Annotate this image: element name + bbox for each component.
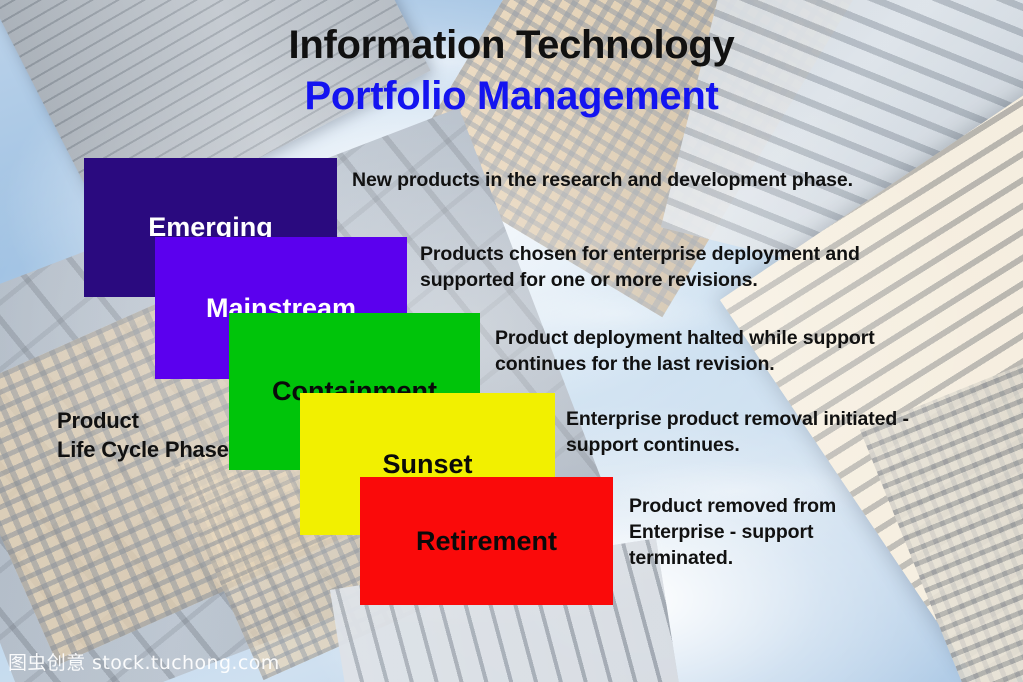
phase-description-mainstream: Products chosen for enterprise deploymen… xyxy=(420,242,950,294)
phase-label-retirement: Retirement xyxy=(416,526,557,557)
left-axis-label-line-one: Product xyxy=(57,406,241,435)
phase-box-retirement[interactable]: Retirement xyxy=(360,477,613,605)
phase-description-sunset: Enterprise product removal initiated - s… xyxy=(566,407,926,459)
poster-title: Information Technology Portfolio Managem… xyxy=(0,24,1023,118)
phase-description-containment: Product deployment halted while support … xyxy=(495,326,965,378)
phase-label-sunset: Sunset xyxy=(382,449,472,480)
phase-description-emerging: New products in the research and develop… xyxy=(352,168,927,194)
phase-description-retirement: Product removed from Enterprise - suppor… xyxy=(629,494,909,572)
title-line-two: Portfolio Management xyxy=(0,75,1023,118)
stock-watermark: 图虫创意 stock.tuchong.com xyxy=(8,648,280,675)
title-line-one: Information Technology xyxy=(0,24,1023,67)
left-axis-label-line-two: Life Cycle Phases xyxy=(57,435,241,464)
poster-canvas: Information Technology Portfolio Managem… xyxy=(0,0,1023,682)
left-axis-label: Product Life Cycle Phases xyxy=(57,406,241,464)
